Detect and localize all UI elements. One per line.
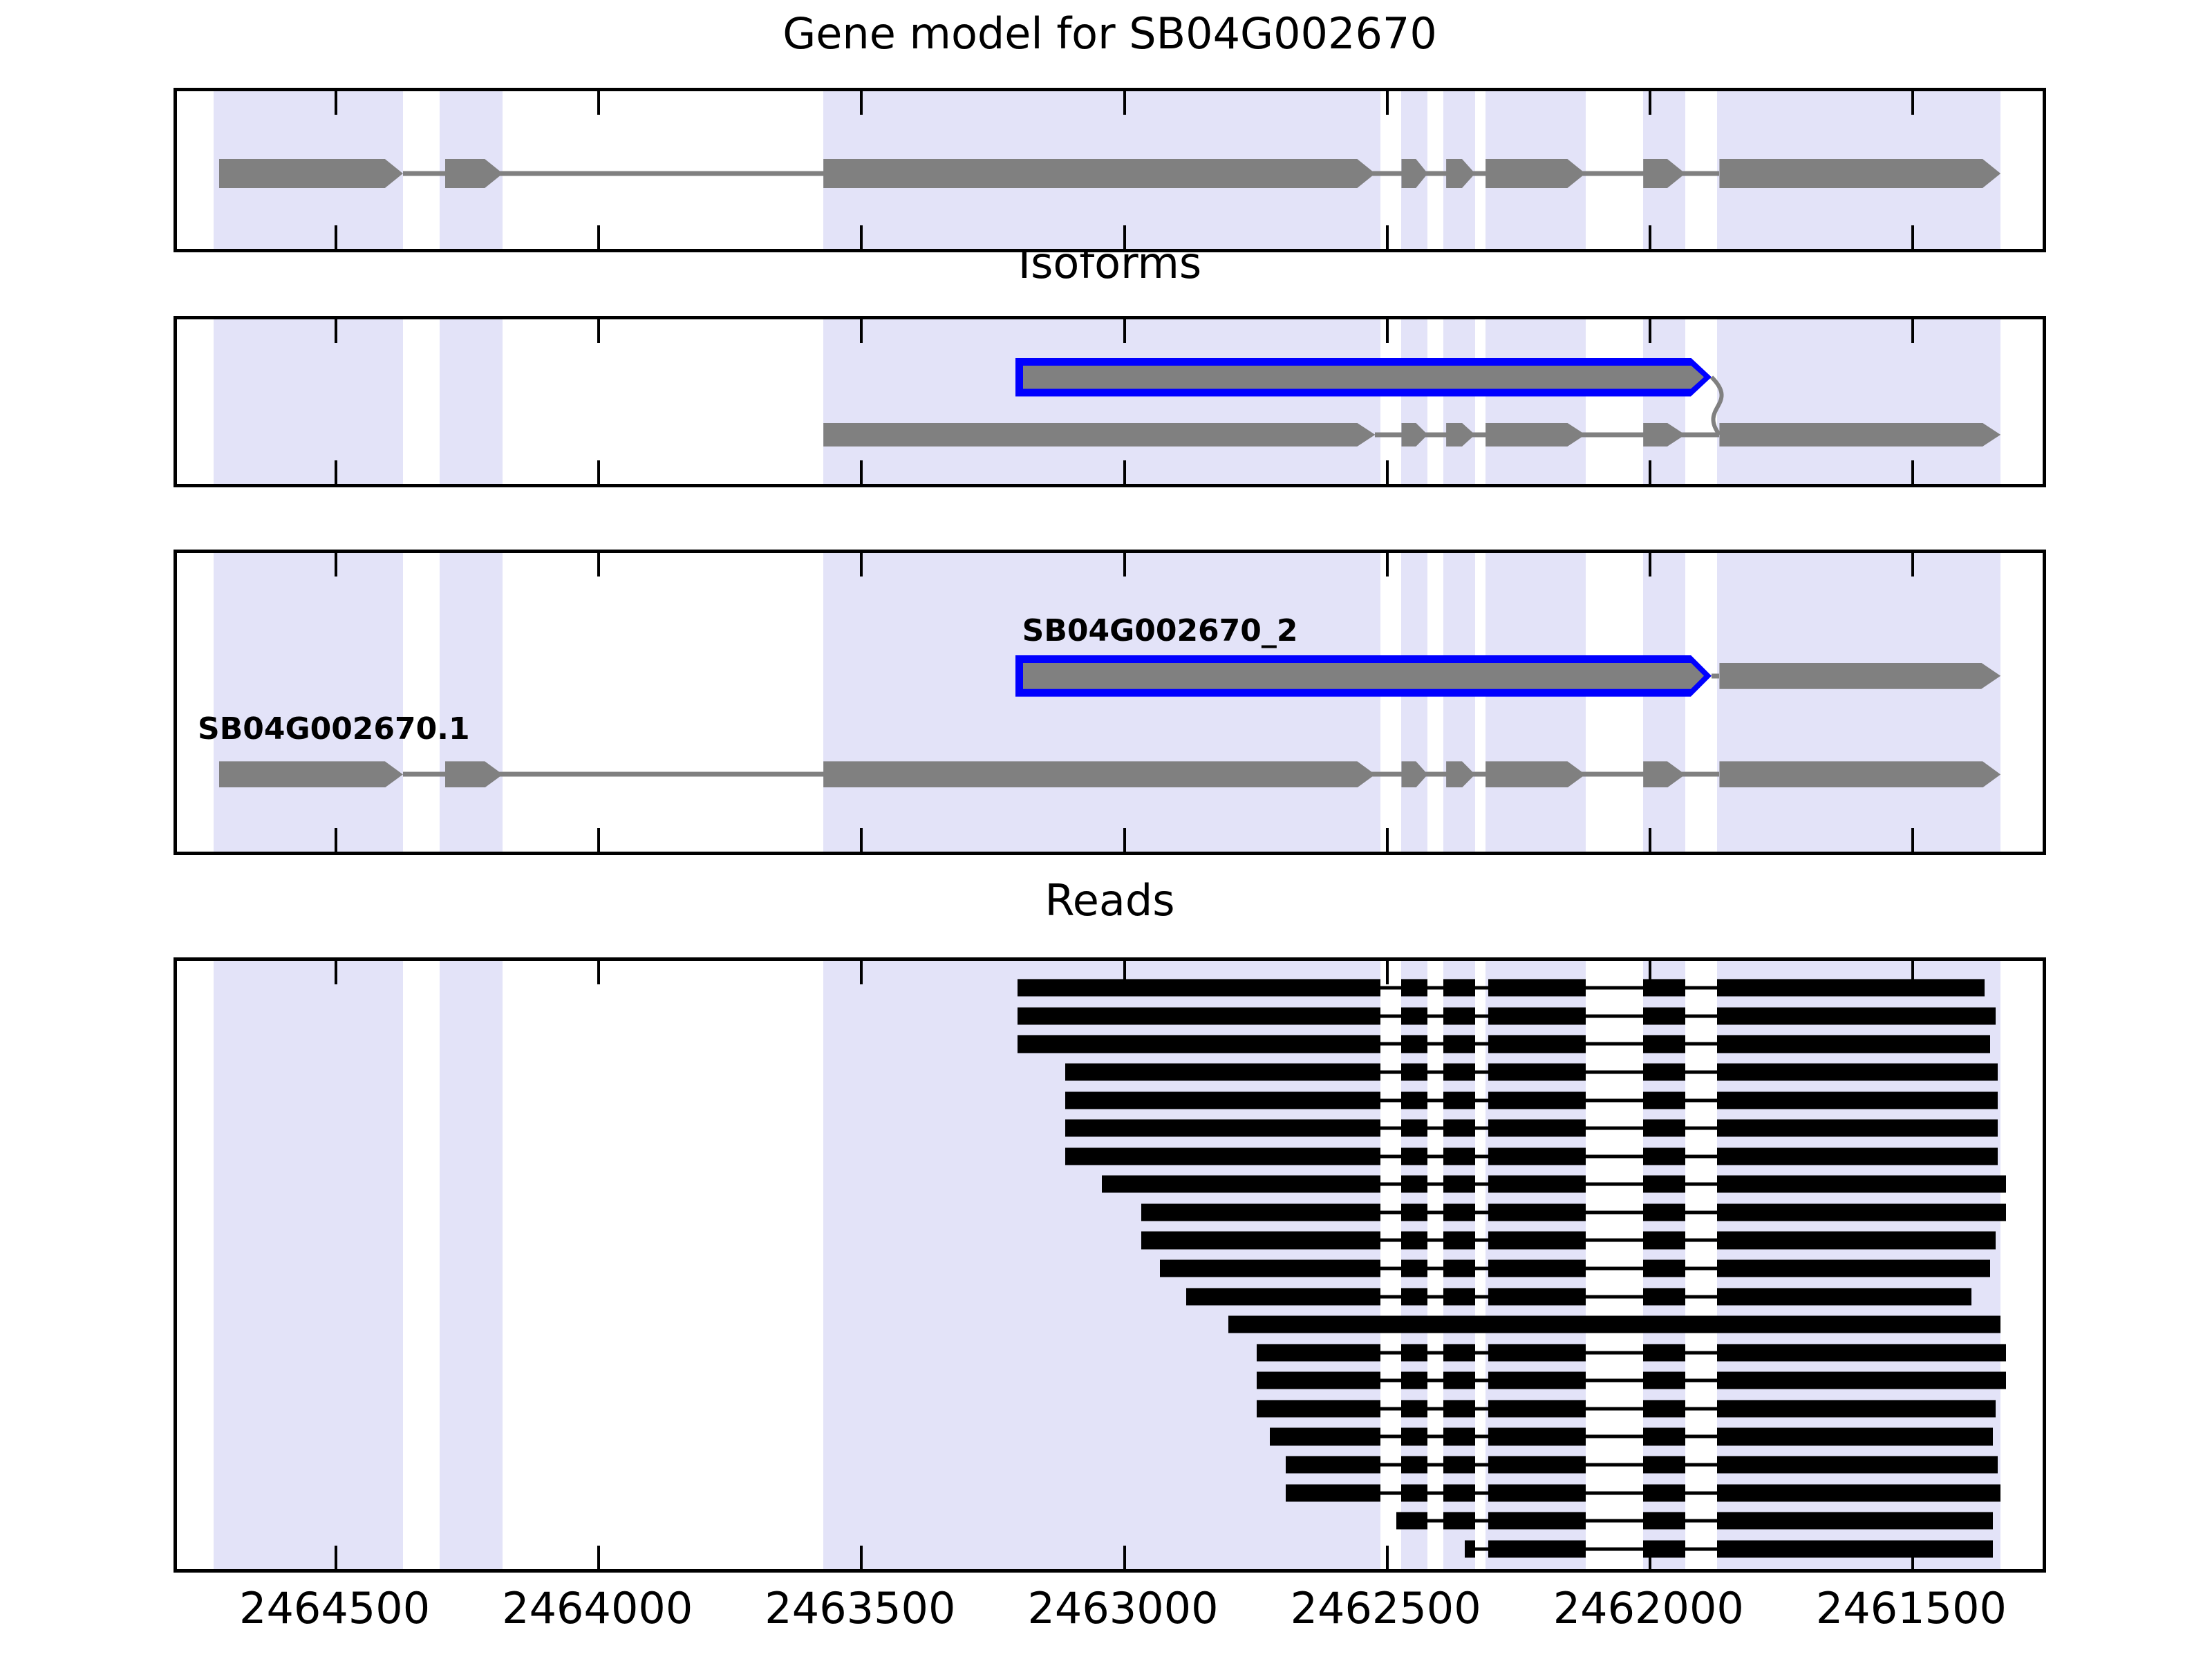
axis-tick: [335, 91, 337, 115]
read-exon: [1141, 1232, 1380, 1249]
read-exon: [1065, 1147, 1380, 1165]
shaded-region: [823, 319, 1380, 484]
read-exon: [1065, 1091, 1380, 1109]
read-exon: [1443, 1063, 1475, 1080]
read-exon: [1488, 1232, 1586, 1249]
axis-tick: [1911, 91, 1914, 115]
transcript-row: [177, 748, 2043, 800]
read-exon: [1443, 1091, 1475, 1109]
read-exon: [1643, 1203, 1685, 1221]
read-exon: [1488, 1512, 1586, 1530]
read-row: [177, 1532, 2043, 1566]
axis-tick: [335, 225, 337, 249]
exon: [1401, 423, 1427, 447]
read-exon: [1717, 1484, 2001, 1501]
read-exon: [1443, 1428, 1475, 1445]
read-exon: [1270, 1428, 1380, 1445]
read-exon: [1396, 1512, 1428, 1530]
shaded-region: [1717, 553, 2001, 852]
read-exon: [1488, 1120, 1586, 1137]
exon: [823, 159, 1375, 188]
read-exon: [1401, 1232, 1427, 1249]
axis-tick: [597, 319, 600, 343]
read-exon: [1443, 1147, 1475, 1165]
exon: [1719, 663, 2000, 689]
read-exon: [1488, 1147, 1586, 1165]
axis-tick: [597, 225, 600, 249]
read-exon: [1717, 1120, 1998, 1137]
exon: [1719, 423, 2000, 447]
read-exon: [1443, 1512, 1475, 1530]
axis-tick: [335, 319, 337, 343]
read-exon: [1443, 1007, 1475, 1024]
read-exon: [1717, 1344, 2006, 1361]
shaded-region: [1443, 553, 1475, 852]
read-exon: [1488, 1400, 1586, 1417]
read-exon: [1488, 1063, 1586, 1080]
axis-tick: [1123, 553, 1126, 577]
read-exon: [1643, 1344, 1685, 1361]
axis-tick: [1649, 828, 1651, 852]
axis-tick: [1123, 225, 1126, 249]
exon: [219, 159, 403, 188]
read-exon: [1018, 1007, 1380, 1024]
figure-canvas: Gene model for SB04G002670PacBio ModelIs…: [0, 0, 2212, 1659]
exon: [1485, 423, 1585, 447]
axis-tick: [1911, 319, 1914, 343]
read-exon: [1643, 1147, 1685, 1165]
read-exon: [1160, 1259, 1380, 1277]
read-exon: [1717, 1540, 1993, 1557]
read-exon: [1643, 1540, 1685, 1557]
read-exon: [1465, 1540, 1475, 1557]
axes-isoforms: [174, 550, 2046, 855]
x-tick-label: 2464500: [224, 1583, 445, 1633]
read-exon: [1443, 1203, 1475, 1221]
read-exon: [1717, 1035, 1990, 1053]
exon: [445, 159, 503, 188]
shaded-region: [214, 319, 403, 484]
exon: [1485, 761, 1585, 787]
axis-tick: [1123, 828, 1126, 852]
read-exon: [1228, 1316, 2001, 1333]
intron: [1712, 673, 1719, 678]
shaded-region: [1401, 319, 1427, 484]
read-exon: [1643, 1063, 1685, 1080]
exon: [1643, 761, 1685, 787]
axis-tick: [860, 225, 863, 249]
read-exon: [1257, 1344, 1380, 1361]
x-tick-label: 2463000: [1013, 1583, 1234, 1633]
axis-tick: [1911, 225, 1914, 249]
read-exon: [1488, 1203, 1586, 1221]
read-exon: [1717, 1428, 1993, 1445]
read-exon: [1443, 1035, 1475, 1053]
x-tick-label: 2461500: [1801, 1583, 2022, 1633]
x-tick-label: 2462500: [1275, 1583, 1497, 1633]
exon: [823, 761, 1375, 787]
read-exon: [1443, 1176, 1475, 1193]
read-exon: [1443, 980, 1475, 997]
read-exon: [1401, 1035, 1427, 1053]
read-exon: [1643, 1176, 1685, 1193]
transcript-label-alternate: SB04G002670_2: [1022, 613, 1298, 648]
read-exon: [1401, 1120, 1427, 1137]
axis-tick: [597, 553, 600, 577]
read-exon: [1401, 1259, 1427, 1277]
read-exon: [1401, 1372, 1427, 1389]
shaded-region: [440, 553, 503, 852]
transcript-row: [177, 144, 2043, 203]
shaded-region: [1717, 319, 2001, 484]
axis-tick: [1123, 319, 1126, 343]
read-exon: [1443, 1400, 1475, 1417]
axis-tick: [860, 91, 863, 115]
read-exon: [1643, 1035, 1685, 1053]
axis-tick: [1649, 91, 1651, 115]
x-tick-label: 2462000: [1538, 1583, 1759, 1633]
panel-title-gene-model: Gene model for SB04G002670: [177, 12, 2043, 55]
shaded-region: [1401, 553, 1427, 852]
read-exon: [1717, 1400, 1996, 1417]
axis-tick: [1386, 460, 1389, 484]
transcript-tail-row: [177, 650, 2043, 702]
read-exon: [1488, 1176, 1586, 1193]
axis-tick: [1649, 225, 1651, 249]
axis-tick: [1123, 460, 1126, 484]
axis-tick: [1123, 91, 1126, 115]
exon: [1643, 423, 1685, 447]
read-exon: [1443, 1484, 1475, 1501]
read-exon: [1643, 1120, 1685, 1137]
exon: [1446, 423, 1475, 447]
read-exon: [1443, 1232, 1475, 1249]
axis-tick: [335, 553, 337, 577]
axis-tick: [597, 460, 600, 484]
read-exon: [1488, 1428, 1586, 1445]
exon: [1401, 761, 1427, 787]
shaded-region: [1643, 553, 1685, 852]
axis-tick: [1911, 460, 1914, 484]
read-exon: [1102, 1176, 1380, 1193]
read-exon: [1401, 980, 1427, 997]
axis-tick: [597, 828, 600, 852]
read-exon: [1443, 1288, 1475, 1305]
read-exon: [1443, 1120, 1475, 1137]
read-exon: [1401, 1007, 1427, 1024]
read-exon: [1488, 1372, 1586, 1389]
read-exon: [1443, 1259, 1475, 1277]
shaded-region: [823, 553, 1380, 852]
read-exon: [1643, 1232, 1685, 1249]
axes-pacbio-model: [174, 316, 2046, 487]
read-exon: [1401, 1484, 1427, 1501]
axis-tick: [860, 460, 863, 484]
read-exon: [1488, 1259, 1586, 1277]
axis-tick: [1386, 828, 1389, 852]
read-exon: [1257, 1400, 1380, 1417]
exon: [445, 761, 503, 787]
read-exon: [1401, 1063, 1427, 1080]
x-tick-label: 2463500: [749, 1583, 971, 1633]
read-exon: [1065, 1063, 1380, 1080]
read-exon: [1643, 1259, 1685, 1277]
axis-tick: [335, 828, 337, 852]
exon: [1446, 159, 1475, 188]
axis-tick: [1386, 319, 1389, 343]
shaded-region: [214, 553, 403, 852]
shaded-region: [1643, 319, 1685, 484]
axis-tick: [1386, 91, 1389, 115]
axis-tick: [1649, 460, 1651, 484]
read-exon: [1717, 1259, 1990, 1277]
read-exon: [1401, 1147, 1427, 1165]
read-exon: [1488, 1484, 1586, 1501]
read-exon: [1488, 1091, 1586, 1109]
read-exon: [1401, 1176, 1427, 1193]
axes-reads: [174, 957, 2046, 1573]
read-exon: [1643, 1007, 1685, 1024]
read-exon: [1643, 1372, 1685, 1389]
read-exon: [1401, 1288, 1427, 1305]
read-exon: [1401, 1203, 1427, 1221]
read-exon: [1643, 1512, 1685, 1530]
exon: [1719, 761, 2000, 787]
axis-tick: [1649, 553, 1651, 577]
x-tick-label: 2464000: [487, 1583, 708, 1633]
read-exon: [1018, 980, 1380, 997]
read-exon: [1401, 1091, 1427, 1109]
read-exon: [1488, 1007, 1586, 1024]
read-exon: [1401, 1344, 1427, 1361]
read-exon: [1443, 1344, 1475, 1361]
read-exon: [1643, 1428, 1685, 1445]
exon: [219, 761, 403, 787]
read-exon: [1488, 1288, 1586, 1305]
read-exon: [1717, 1512, 1993, 1530]
read-exon: [1717, 1176, 2006, 1193]
read-exon: [1717, 1203, 2006, 1221]
read-exon: [1286, 1484, 1380, 1501]
read-exon: [1717, 1063, 1998, 1080]
axis-tick: [1649, 319, 1651, 343]
read-exon: [1186, 1288, 1380, 1305]
read-exon: [1643, 1288, 1685, 1305]
read-exon: [1141, 1203, 1380, 1221]
read-exon: [1717, 1091, 1998, 1109]
read-exon: [1401, 1400, 1427, 1417]
read-exon: [1065, 1120, 1380, 1137]
read-exon: [1643, 980, 1685, 997]
shaded-region: [1443, 319, 1475, 484]
axis-tick: [860, 319, 863, 343]
read-exon: [1488, 1344, 1586, 1361]
read-exon: [1401, 1428, 1427, 1445]
axis-tick: [1911, 828, 1914, 852]
read-exon: [1643, 1091, 1685, 1109]
read-exon: [1401, 1456, 1427, 1473]
exon: [1643, 159, 1685, 188]
exon: [1719, 159, 2000, 188]
transcript-label-primary: SB04G002670.1: [198, 711, 470, 747]
exon: [1401, 159, 1427, 188]
read-exon: [1018, 1035, 1380, 1053]
read-exon: [1286, 1456, 1380, 1473]
highlight-exon-fill: [1023, 366, 1704, 389]
read-exon: [1717, 980, 1985, 997]
axis-tick: [860, 553, 863, 577]
read-exon: [1443, 1456, 1475, 1473]
axis-tick: [597, 91, 600, 115]
read-exon: [1488, 1035, 1586, 1053]
exon: [1485, 159, 1585, 188]
read-exon: [1488, 1456, 1586, 1473]
shaded-region: [1485, 553, 1585, 852]
read-exon: [1643, 1400, 1685, 1417]
read-exon: [1257, 1372, 1380, 1389]
exon: [1446, 761, 1475, 787]
read-exon: [1488, 1540, 1586, 1557]
panel-title-reads: Reads: [177, 879, 2043, 922]
read-exon: [1717, 1007, 1996, 1024]
transcript-row-highlighted: [177, 354, 2043, 401]
exon: [823, 423, 1375, 447]
read-exon: [1717, 1456, 1998, 1473]
read-exon: [1643, 1484, 1685, 1501]
shaded-region: [1485, 319, 1585, 484]
read-exon: [1717, 1372, 2006, 1389]
transcript-row: [177, 411, 2043, 458]
shaded-region: [440, 319, 503, 484]
axis-tick: [1386, 225, 1389, 249]
read-exon: [1717, 1147, 1998, 1165]
read-exon: [1443, 1372, 1475, 1389]
axis-tick: [335, 460, 337, 484]
axes-gene-model: [174, 88, 2046, 252]
read-exon: [1717, 1288, 1972, 1305]
read-exon: [1643, 1456, 1685, 1473]
read-exon: [1488, 980, 1586, 997]
axis-tick: [1911, 553, 1914, 577]
axis-tick: [860, 828, 863, 852]
read-exon: [1717, 1232, 1996, 1249]
axis-tick: [1386, 553, 1389, 577]
